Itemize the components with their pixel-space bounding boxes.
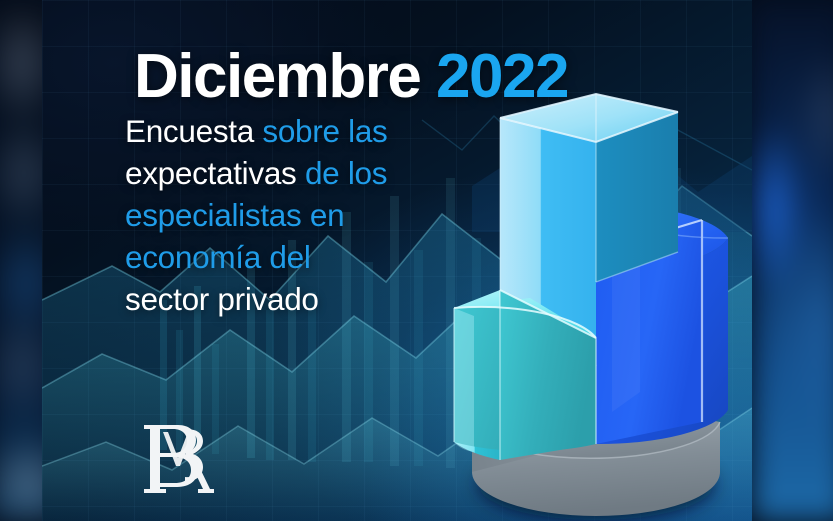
chart-3d-exploded-cylinder	[440, 92, 750, 521]
subtitle-line1-blue: sobre las	[262, 113, 387, 149]
poster-main-panel: Diciembre 2022 Encuesta sobre las expect…	[42, 0, 752, 521]
subtitle-line5-white: sector privado	[125, 281, 319, 317]
subtitle-line1-white: Encuesta	[125, 113, 262, 149]
subtitle-line4-blue: economía del	[125, 239, 311, 275]
banxico-monogram-logo-icon	[138, 412, 214, 506]
subtitle-line2-blue: de los	[305, 155, 387, 191]
subtitle-line3-blue: especialistas en	[125, 197, 344, 233]
poster-canvas: Diciembre 2022 Encuesta sobre las expect…	[0, 0, 833, 521]
title-month: Diciembre	[134, 42, 420, 111]
letterbox-right-blur	[752, 0, 833, 521]
subtitle-line2-white: expectativas	[125, 155, 305, 191]
